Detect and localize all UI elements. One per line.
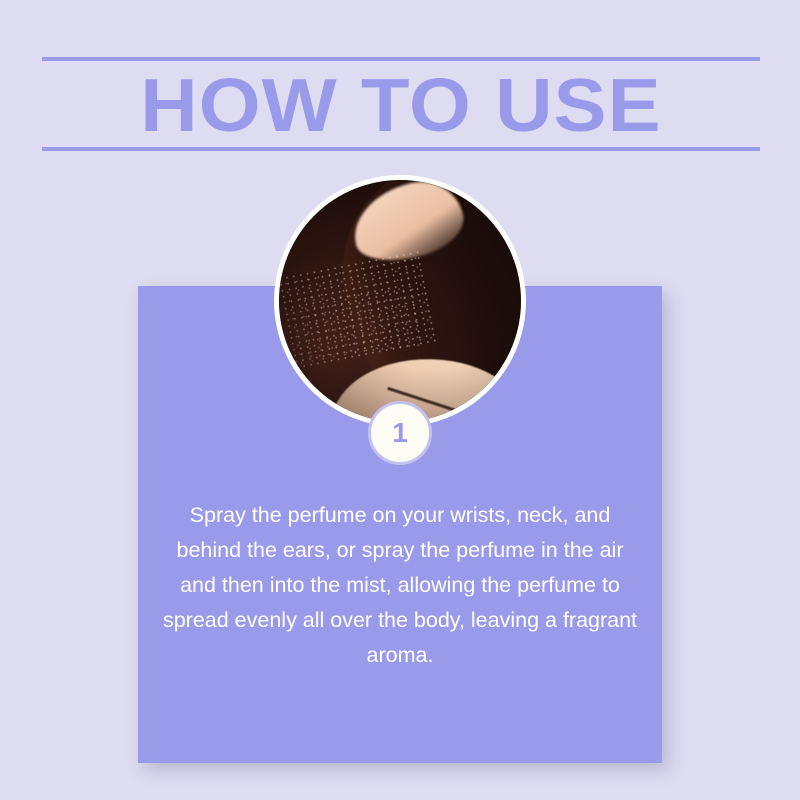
page-title: HOW TO USE xyxy=(20,63,781,147)
perfume-spray-photo xyxy=(274,175,526,427)
title-rule-top xyxy=(42,57,760,61)
header: HOW TO USE xyxy=(42,57,760,151)
how-to-use-poster: HOW TO USE 1 Spray the perfume on your w… xyxy=(0,0,800,800)
title-rule-bottom xyxy=(42,147,760,151)
photo-artwork xyxy=(279,180,521,422)
step-description: Spray the perfume on your wrists, neck, … xyxy=(160,498,640,673)
photo-vignette xyxy=(279,180,521,422)
step-number-badge: 1 xyxy=(368,401,432,465)
